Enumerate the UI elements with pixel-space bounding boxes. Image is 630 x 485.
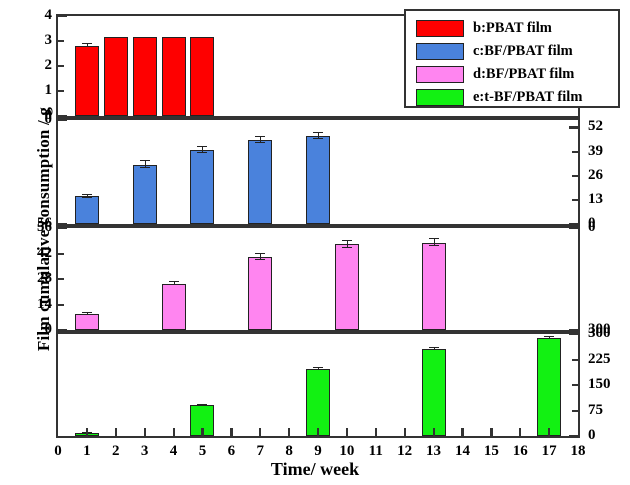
legend-label-d: d:BF/PBAT film [473, 66, 574, 83]
bar [75, 314, 99, 330]
legend-item: c:BF/PBAT film [416, 40, 612, 62]
y-tick-label: 0 [588, 219, 630, 236]
y-tick-label: 1 [12, 82, 52, 99]
error-bar-cap [169, 284, 179, 285]
legend-label-b: b:PBAT film [473, 20, 552, 37]
bar [248, 257, 272, 330]
y-tick-mark [58, 15, 67, 17]
y-tick-mark [572, 359, 578, 361]
y-tick-mark [58, 253, 64, 255]
error-bar-cap [313, 369, 323, 370]
y-tick-label: 4 [12, 7, 52, 24]
y-tick-mark [569, 223, 578, 225]
y-tick-label: 0 [12, 111, 52, 128]
y-tick-mark [572, 384, 578, 386]
bar [306, 136, 330, 224]
y-tick-label: 26 [588, 167, 630, 184]
y-tick-label: 75 [588, 402, 630, 419]
x-tick-mark [144, 428, 146, 436]
legend-swatch-d [416, 66, 464, 83]
error-bar-cap [255, 142, 265, 143]
bar [537, 338, 561, 436]
error-bar-cap [82, 194, 92, 195]
x-tick-mark [201, 428, 203, 436]
y-tick-mark [569, 329, 578, 331]
x-tick-mark [548, 428, 550, 436]
x-tick-mark [490, 428, 492, 436]
legend-swatch-c [416, 43, 464, 60]
y-tick-mark [569, 227, 578, 229]
error-bar-cap [313, 367, 323, 368]
y-tick-mark [58, 40, 64, 42]
error-bar-cap [82, 197, 92, 198]
legend-item: b:PBAT film [416, 17, 612, 39]
error-bar-cap [140, 160, 150, 161]
y-tick-mark [572, 175, 578, 177]
x-tick-mark [317, 428, 319, 436]
bar [104, 37, 128, 116]
y-tick-mark [58, 90, 64, 92]
y-tick-label: 300 [588, 325, 630, 342]
error-bar-cap [82, 314, 92, 315]
legend-item: d:BF/PBAT film [416, 63, 612, 85]
error-bar-cap [429, 245, 439, 246]
y-tick-mark [58, 115, 67, 117]
error-bar-cap [255, 136, 265, 137]
error-bar-cap [313, 138, 323, 139]
y-tick-mark [569, 435, 578, 437]
error-bar-cap [169, 281, 179, 282]
error-bar-cap [82, 46, 92, 47]
x-tick-mark [230, 428, 232, 436]
y-tick-mark [572, 410, 578, 412]
x-tick-mark [173, 428, 175, 436]
error-bar-cap [82, 43, 92, 44]
y-tick-label: 3 [12, 32, 52, 49]
bar [133, 37, 157, 116]
error-bar-cap [197, 152, 207, 153]
x-tick-mark [86, 428, 88, 436]
x-tick-mark [404, 428, 406, 436]
y-tick-label: 2 [12, 57, 52, 74]
y-tick-mark [569, 333, 578, 335]
error-bar-cap [429, 347, 439, 348]
panel-plot-4 [58, 334, 578, 436]
chart-root: Film cumulative consumption / g Time/ we… [0, 0, 630, 485]
y-tick-mark [58, 223, 67, 225]
bar [75, 196, 99, 224]
bar [190, 150, 214, 224]
error-bar-cap [342, 247, 352, 248]
legend-item: e:t-BF/PBAT film [416, 86, 612, 108]
y-tick-label: 28 [12, 270, 52, 287]
error-bar-cap [544, 336, 554, 337]
error-bar-cap [255, 259, 265, 260]
error-bar-cap [197, 405, 207, 406]
x-tick-label: 18 [558, 443, 598, 460]
legend-label-e: e:t-BF/PBAT film [473, 89, 582, 106]
y-tick-label: 13 [588, 191, 630, 208]
error-bar-cap [255, 253, 265, 254]
y-tick-mark [569, 126, 578, 128]
error-bar-cap [197, 146, 207, 147]
bar [190, 37, 214, 116]
panel-plot-2 [58, 120, 578, 224]
bar [422, 349, 446, 436]
x-tick-mark [288, 428, 290, 436]
bar [248, 140, 272, 224]
error-bar-cap [82, 312, 92, 313]
x-tick-mark [115, 428, 117, 436]
x-tick-mark [519, 428, 521, 436]
legend: b:PBAT film c:BF/PBAT film d:BF/PBAT fil… [404, 9, 620, 108]
bar [162, 284, 186, 330]
legend-label-c: c:BF/PBAT film [473, 43, 573, 60]
error-bar-cap [544, 338, 554, 339]
bar [75, 46, 99, 117]
y-tick-mark [572, 199, 578, 201]
x-tick-mark [375, 428, 377, 436]
bar [422, 243, 446, 330]
y-tick-mark [58, 65, 64, 67]
y-tick-label: 42 [12, 245, 52, 262]
y-tick-mark [58, 278, 64, 280]
panel-plot-3 [58, 228, 578, 330]
y-tick-label: 39 [588, 143, 630, 160]
y-tick-mark [58, 119, 67, 121]
x-tick-mark [346, 428, 348, 436]
bar [133, 165, 157, 224]
y-tick-mark [58, 329, 67, 331]
y-tick-label: 56 [12, 219, 52, 236]
legend-swatch-e [416, 89, 464, 106]
error-bar-cap [313, 132, 323, 133]
bar [335, 244, 359, 330]
y-tick-label: 14 [12, 296, 52, 313]
bar [162, 37, 186, 116]
error-bar-cap [429, 349, 439, 350]
error-bar-cap [140, 167, 150, 168]
y-tick-label: 0 [12, 321, 52, 338]
y-tick-mark [58, 304, 64, 306]
y-tick-label: 0 [588, 427, 630, 444]
error-bar-cap [429, 238, 439, 239]
legend-swatch-b [416, 20, 464, 37]
bar [306, 369, 330, 436]
y-tick-mark [572, 151, 578, 153]
y-tick-label: 225 [588, 351, 630, 368]
x-axis-title: Time/ week [0, 459, 630, 480]
y-tick-label: 52 [588, 118, 630, 135]
x-tick-mark [259, 428, 261, 436]
y-tick-label: 150 [588, 376, 630, 393]
x-tick-mark [461, 428, 463, 436]
error-bar-cap [342, 240, 352, 241]
x-tick-mark [433, 428, 435, 436]
y-tick-mark [58, 227, 67, 229]
